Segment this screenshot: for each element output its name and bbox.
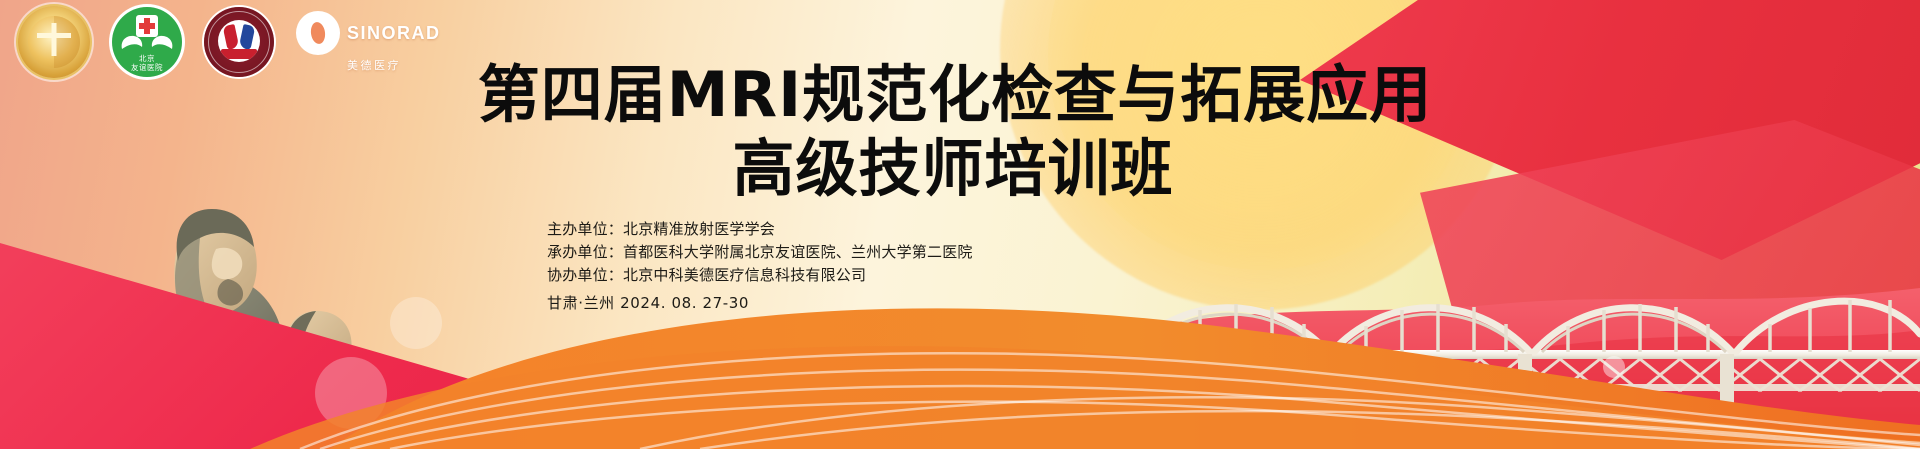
coorganizer-line: 协办单位：北京中科美德医疗信息科技有限公司	[547, 264, 973, 287]
location-date-line: 甘肃·兰州 2024. 08. 27-30	[547, 292, 973, 315]
event-title-line-2: 高级技师培训班	[0, 132, 1920, 206]
organizer-line: 主办单位：北京精准放射医学学会	[547, 218, 973, 241]
event-title: 第四届MRI规范化检查与拓展应用 高级技师培训班	[0, 58, 1920, 206]
host-line: 承办单位：首都医科大学附属北京友谊医院、兰州大学第二医院	[547, 241, 973, 264]
event-title-line-1: 第四届MRI规范化检查与拓展应用	[0, 58, 1920, 132]
banner-content: 第四届MRI规范化检查与拓展应用 高级技师培训班 主办单位：北京精准放射医学学会…	[0, 0, 1920, 449]
event-banner: 北京 友谊医院 SINORAD 美德医疗	[0, 0, 1920, 449]
event-info-block: 主办单位：北京精准放射医学学会 承办单位：首都医科大学附属北京友谊医院、兰州大学…	[547, 218, 973, 315]
